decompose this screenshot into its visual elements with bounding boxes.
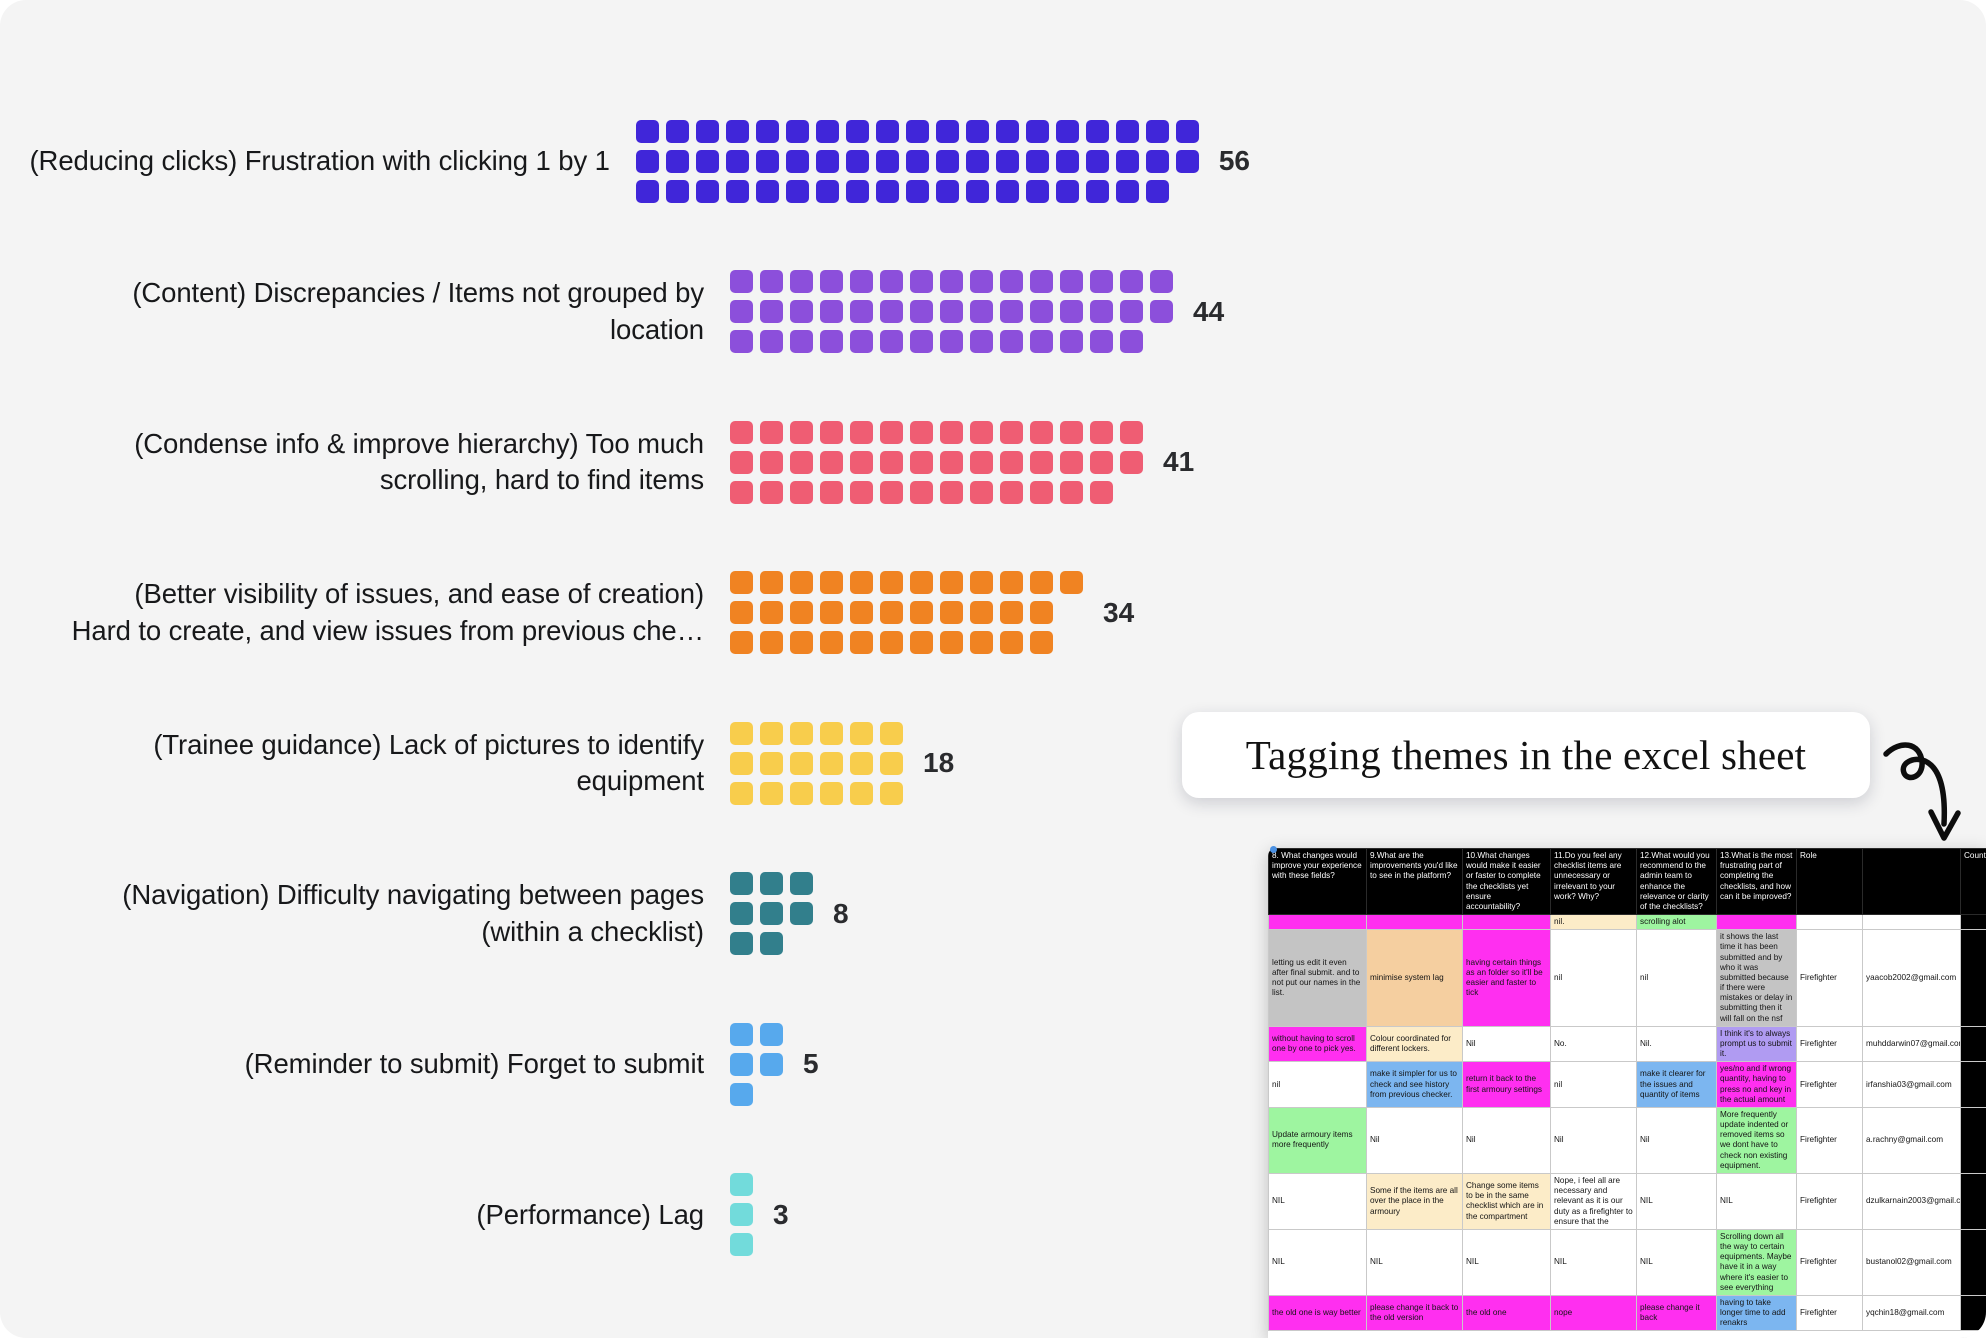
waffle-cell — [846, 180, 869, 203]
chart-row: (Reminder to submit) Forget to submit5 — [0, 989, 1250, 1140]
waffle-cell — [696, 150, 719, 173]
waffle-cell — [936, 150, 959, 173]
chart-row-label: (Reducing clicks) Frustration with click… — [0, 143, 636, 179]
table-cell[interactable]: please change it back to the old version — [1367, 1295, 1463, 1331]
table-cell[interactable]: NIL — [1637, 1173, 1717, 1229]
waffle-cell — [1030, 421, 1053, 444]
table-cell[interactable]: make it clearer for the issues and quant… — [1637, 1062, 1717, 1108]
waffle-cell — [1086, 150, 1109, 173]
waffle-cell — [1026, 180, 1049, 203]
table-cell[interactable]: bustanol02@gmail.com — [1863, 1229, 1961, 1295]
chart-row-label: (Navigation) Difficulty navigating betwe… — [0, 877, 730, 950]
waffle-cell — [730, 1173, 753, 1196]
waffle-cell — [996, 180, 1019, 203]
waffle-cell — [880, 481, 903, 504]
waffle-cell — [786, 120, 809, 143]
table-cell[interactable] — [1863, 915, 1961, 930]
waffle-cell — [1060, 330, 1083, 353]
callout-text: Tagging themes in the excel sheet — [1246, 731, 1806, 779]
waffle-cell — [1056, 150, 1079, 173]
table-row: letting us edit it even after final subm… — [1269, 930, 1986, 1027]
waffle-cell — [730, 330, 753, 353]
chart-row: (Navigation) Difficulty navigating betwe… — [0, 839, 1250, 990]
waffle-cell — [936, 180, 959, 203]
chart-row-label: (Reminder to submit) Forget to submit — [0, 1046, 730, 1082]
waffle-cell — [666, 180, 689, 203]
waffle-cell — [1026, 120, 1049, 143]
waffle-cell — [1116, 150, 1139, 173]
chart-row-count: 8 — [833, 898, 849, 930]
waffle-cell — [970, 270, 993, 293]
table-cell[interactable]: NIL — [1463, 1229, 1551, 1295]
chart-row-value-group: 34 — [730, 571, 1134, 654]
waffle-cell — [970, 571, 993, 594]
waffle-cell — [1030, 481, 1053, 504]
waffle-chart: (Reducing clicks) Frustration with click… — [0, 0, 1250, 1290]
waffle-cell — [910, 451, 933, 474]
waffle-cell — [1030, 300, 1053, 323]
waffle-cell — [1030, 571, 1053, 594]
table-cell[interactable]: Update armoury items more frequently — [1269, 1107, 1367, 1173]
waffle-cell — [966, 180, 989, 203]
screenshot-canvas: (Reducing clicks) Frustration with click… — [0, 0, 1986, 1338]
chart-row-count: 3 — [773, 1199, 789, 1231]
waffle-cell — [730, 1023, 753, 1046]
table-cell[interactable]: I think it's to always prompt us to subm… — [1717, 1026, 1797, 1062]
waffle-cell — [760, 300, 783, 323]
table-row: nilmake it simpler for us to check and s… — [1269, 1062, 1986, 1108]
waffle-cell — [820, 601, 843, 624]
waffle-cell — [1146, 120, 1169, 143]
waffle-cell — [940, 601, 963, 624]
waffle-cell — [756, 180, 779, 203]
table-cell[interactable] — [1961, 1173, 1986, 1229]
excel-table[interactable]: 8. What changes would improve your exper… — [1268, 848, 1986, 1331]
waffle-cell — [910, 330, 933, 353]
waffle-cell — [910, 270, 933, 293]
waffle-cell — [730, 1083, 753, 1106]
table-cell[interactable]: nil — [1269, 1062, 1367, 1108]
waffle-cell — [760, 330, 783, 353]
waffle-cell — [730, 1053, 753, 1076]
table-header-row: 8. What changes would improve your exper… — [1269, 849, 1986, 915]
waffle-cell — [1030, 601, 1053, 624]
waffle-cell — [1116, 180, 1139, 203]
waffle-cell — [1060, 270, 1083, 293]
waffle-cell — [1000, 330, 1023, 353]
waffle-cell — [1176, 150, 1199, 173]
waffle-grid — [730, 270, 1173, 353]
waffle-cell — [906, 180, 929, 203]
column-header[interactable]: Count — [1961, 849, 1986, 915]
table-cell[interactable]: NIL — [1269, 1173, 1367, 1229]
table-cell[interactable]: nil. — [1551, 915, 1637, 930]
waffle-cell — [696, 180, 719, 203]
waffle-cell — [876, 150, 899, 173]
chart-row-value-group: 41 — [730, 421, 1194, 504]
chart-row: (Performance) Lag3 — [0, 1140, 1250, 1291]
waffle-cell — [820, 752, 843, 775]
waffle-cell — [790, 782, 813, 805]
waffle-cell — [730, 722, 753, 745]
waffle-cell — [1060, 451, 1083, 474]
waffle-cell — [1000, 601, 1023, 624]
curved-arrow-down-icon — [1876, 728, 1976, 848]
waffle-cell — [760, 932, 783, 955]
waffle-cell — [970, 451, 993, 474]
waffle-cell — [970, 330, 993, 353]
table-row: NILNILNILNILNILScrolling down all the wa… — [1269, 1229, 1986, 1295]
waffle-cell — [790, 270, 813, 293]
table-cell[interactable]: Some if the items are all over the place… — [1367, 1173, 1463, 1229]
waffle-grid — [730, 1173, 753, 1256]
chart-row-label: (Condense info & improve hierarchy) Too … — [0, 426, 730, 499]
waffle-cell — [816, 120, 839, 143]
waffle-cell — [966, 150, 989, 173]
waffle-cell — [850, 300, 873, 323]
waffle-cell — [666, 150, 689, 173]
waffle-cell — [1150, 270, 1173, 293]
table-cell[interactable]: nil — [1551, 930, 1637, 1027]
waffle-cell — [786, 180, 809, 203]
waffle-cell — [996, 150, 1019, 173]
table-cell[interactable] — [1961, 1295, 1986, 1331]
waffle-cell — [970, 300, 993, 323]
table-cell[interactable]: NIL — [1637, 1229, 1717, 1295]
waffle-cell — [820, 421, 843, 444]
waffle-cell — [910, 571, 933, 594]
waffle-cell — [940, 571, 963, 594]
waffle-cell — [790, 722, 813, 745]
table-cell[interactable]: Nil — [1637, 1107, 1717, 1173]
column-header[interactable]: 8. What changes would improve your exper… — [1269, 849, 1367, 915]
table-cell[interactable]: More frequently update indented or remov… — [1717, 1107, 1797, 1173]
waffle-cell — [846, 120, 869, 143]
table-cell[interactable]: irfanshia03@gmail.com — [1863, 1062, 1961, 1108]
table-partial-row: nil.scrolling alot — [1269, 915, 1986, 930]
waffle-cell — [726, 180, 749, 203]
table-cell[interactable]: Firefighter — [1797, 1295, 1863, 1331]
waffle-cell — [1056, 120, 1079, 143]
waffle-cell — [1000, 300, 1023, 323]
waffle-cell — [910, 481, 933, 504]
waffle-cell — [940, 300, 963, 323]
waffle-grid — [636, 120, 1199, 203]
table-cell[interactable]: having to take longer time to add renakr… — [1717, 1295, 1797, 1331]
waffle-cell — [876, 120, 899, 143]
waffle-cell — [996, 120, 1019, 143]
waffle-cell — [820, 782, 843, 805]
table-cell[interactable]: Firefighter — [1797, 1173, 1863, 1229]
waffle-cell — [880, 421, 903, 444]
waffle-cell — [910, 300, 933, 323]
excel-sheet-screenshot[interactable]: 8. What changes would improve your exper… — [1268, 848, 1986, 1338]
waffle-cell — [820, 571, 843, 594]
table-cell[interactable]: NIL — [1551, 1229, 1637, 1295]
chart-row-count: 44 — [1193, 296, 1224, 328]
table-cell[interactable]: nil — [1551, 1062, 1637, 1108]
table-cell[interactable]: NIL — [1269, 1229, 1367, 1295]
table-cell[interactable]: Nil — [1551, 1107, 1637, 1173]
waffle-cell — [970, 421, 993, 444]
waffle-cell — [1120, 270, 1143, 293]
waffle-cell — [790, 902, 813, 925]
table-cell[interactable]: please change it back — [1637, 1295, 1717, 1331]
table-cell[interactable]: Nil — [1463, 1107, 1551, 1173]
table-cell[interactable]: Nil — [1463, 1026, 1551, 1062]
waffle-cell — [820, 722, 843, 745]
chart-row-value-group: 8 — [730, 872, 849, 955]
waffle-cell — [730, 300, 753, 323]
chart-row-count: 56 — [1219, 145, 1250, 177]
table-cell[interactable]: NIL — [1367, 1229, 1463, 1295]
waffle-cell — [816, 150, 839, 173]
waffle-cell — [760, 752, 783, 775]
table-cell[interactable]: Firefighter — [1797, 1107, 1863, 1173]
waffle-cell — [786, 150, 809, 173]
waffle-cell — [880, 631, 903, 654]
column-header[interactable]: 13.What is the most frustrating part of … — [1717, 849, 1797, 915]
waffle-cell — [880, 571, 903, 594]
chart-row: (Condense info & improve hierarchy) Too … — [0, 387, 1250, 538]
table-cell[interactable] — [1961, 930, 1986, 1027]
chart-row-count: 5 — [803, 1048, 819, 1080]
waffle-grid — [730, 1023, 783, 1106]
table-cell[interactable] — [1269, 915, 1367, 930]
table-cell[interactable] — [1367, 915, 1463, 930]
waffle-cell — [820, 300, 843, 323]
waffle-cell — [1056, 180, 1079, 203]
waffle-cell — [850, 722, 873, 745]
table-cell[interactable] — [1463, 915, 1551, 930]
waffle-cell — [820, 330, 843, 353]
waffle-cell — [726, 120, 749, 143]
chart-row-count: 41 — [1163, 446, 1194, 478]
waffle-cell — [730, 1203, 753, 1226]
column-header[interactable]: Role — [1797, 849, 1863, 915]
table-cell[interactable]: Nil — [1367, 1107, 1463, 1173]
table-cell[interactable] — [1961, 915, 1986, 930]
table-cell[interactable]: without having to scroll one by one to p… — [1269, 1026, 1367, 1062]
waffle-cell — [846, 150, 869, 173]
waffle-cell — [880, 752, 903, 775]
waffle-cell — [1090, 421, 1113, 444]
waffle-cell — [880, 722, 903, 745]
table-cell[interactable]: the old one is way better — [1269, 1295, 1367, 1331]
waffle-cell — [906, 150, 929, 173]
waffle-cell — [790, 601, 813, 624]
waffle-cell — [876, 180, 899, 203]
waffle-cell — [880, 601, 903, 624]
waffle-cell — [1000, 571, 1023, 594]
waffle-cell — [880, 270, 903, 293]
waffle-cell — [850, 270, 873, 293]
waffle-cell — [1030, 330, 1053, 353]
table-cell[interactable]: Nil. — [1637, 1026, 1717, 1062]
waffle-cell — [760, 571, 783, 594]
table-cell[interactable] — [1797, 915, 1863, 930]
table-cell[interactable]: letting us edit it even after final subm… — [1269, 930, 1367, 1027]
table-cell[interactable]: having certain things as an folder so it… — [1463, 930, 1551, 1027]
waffle-cell — [850, 481, 873, 504]
callout-bubble: Tagging themes in the excel sheet — [1182, 712, 1870, 798]
table-cell[interactable]: muhddarwin07@gmail.con — [1863, 1026, 1961, 1062]
waffle-grid — [730, 722, 903, 805]
waffle-cell — [850, 330, 873, 353]
waffle-cell — [730, 601, 753, 624]
table-cell[interactable]: it shows the last time it has been submi… — [1717, 930, 1797, 1027]
waffle-cell — [940, 631, 963, 654]
waffle-cell — [760, 1053, 783, 1076]
chart-row: (Content) Discrepancies / Items not grou… — [0, 237, 1250, 388]
table-row: the old one is way betterplease change i… — [1269, 1295, 1986, 1331]
table-row: without having to scroll one by one to p… — [1269, 1026, 1986, 1062]
waffle-cell — [790, 571, 813, 594]
waffle-cell — [880, 330, 903, 353]
waffle-cell — [940, 270, 963, 293]
waffle-cell — [1000, 270, 1023, 293]
table-cell[interactable]: NIL — [1717, 1173, 1797, 1229]
waffle-cell — [910, 631, 933, 654]
waffle-cell — [850, 421, 873, 444]
table-cell[interactable] — [1961, 1026, 1986, 1062]
waffle-cell — [936, 120, 959, 143]
waffle-cell — [1090, 481, 1113, 504]
waffle-cell — [850, 752, 873, 775]
table-cell[interactable]: Colour coordinated for different lockers… — [1367, 1026, 1463, 1062]
waffle-cell — [730, 782, 753, 805]
waffle-cell — [1030, 631, 1053, 654]
table-cell[interactable]: No. — [1551, 1026, 1637, 1062]
table-cell[interactable] — [1961, 1107, 1986, 1173]
table-cell[interactable]: Firefighter — [1797, 1229, 1863, 1295]
table-cell[interactable] — [1961, 1229, 1986, 1295]
table-cell[interactable]: Change some items to be in the same chec… — [1463, 1173, 1551, 1229]
waffle-cell — [1000, 481, 1023, 504]
column-header[interactable] — [1863, 849, 1961, 915]
table-cell[interactable]: Firefighter — [1797, 1026, 1863, 1062]
chart-row-value-group: 5 — [730, 1023, 819, 1106]
waffle-cell — [1120, 300, 1143, 323]
waffle-cell — [940, 481, 963, 504]
waffle-cell — [760, 902, 783, 925]
table-cell[interactable]: yes/no and if wrong quantity, having to … — [1717, 1062, 1797, 1108]
waffle-cell — [790, 451, 813, 474]
waffle-cell — [760, 782, 783, 805]
table-row: NILSome if the items are all over the pl… — [1269, 1173, 1986, 1229]
waffle-cell — [1026, 150, 1049, 173]
waffle-cell — [816, 180, 839, 203]
chart-row-label: (Content) Discrepancies / Items not grou… — [0, 275, 730, 348]
column-header[interactable]: 10.What changes would make it easier or … — [1463, 849, 1551, 915]
waffle-cell — [1060, 300, 1083, 323]
waffle-cell — [756, 150, 779, 173]
table-cell[interactable] — [1961, 1062, 1986, 1108]
table-cell[interactable]: scrolling alot — [1637, 915, 1717, 930]
waffle-cell — [820, 481, 843, 504]
table-cell[interactable]: yqchin18@gmail.com — [1863, 1295, 1961, 1331]
waffle-cell — [730, 421, 753, 444]
waffle-cell — [726, 150, 749, 173]
waffle-cell — [636, 180, 659, 203]
chart-row-count: 34 — [1103, 597, 1134, 629]
table-cell[interactable]: nope — [1551, 1295, 1637, 1331]
chart-row-value-group: 3 — [730, 1173, 789, 1256]
waffle-cell — [966, 120, 989, 143]
waffle-cell — [730, 752, 753, 775]
waffle-cell — [880, 300, 903, 323]
waffle-cell — [970, 481, 993, 504]
waffle-cell — [970, 631, 993, 654]
waffle-cell — [790, 421, 813, 444]
table-cell[interactable]: dzulkarnain2003@gmail.com — [1863, 1173, 1961, 1229]
waffle-cell — [730, 631, 753, 654]
table-cell[interactable]: return it back to the first armoury sett… — [1463, 1062, 1551, 1108]
waffle-cell — [760, 601, 783, 624]
waffle-cell — [1090, 300, 1113, 323]
chart-row-value-group: 56 — [636, 120, 1250, 203]
waffle-cell — [760, 421, 783, 444]
waffle-cell — [1146, 150, 1169, 173]
waffle-cell — [1176, 120, 1199, 143]
waffle-cell — [730, 481, 753, 504]
waffle-cell — [1116, 120, 1139, 143]
column-header[interactable]: 9.What are the improvements you'd like t… — [1367, 849, 1463, 915]
chart-row-value-group: 18 — [730, 722, 954, 805]
table-cell[interactable]: Scrolling down all the way to certain eq… — [1717, 1229, 1797, 1295]
table-cell[interactable]: Firefighter — [1797, 930, 1863, 1027]
waffle-cell — [790, 481, 813, 504]
waffle-cell — [910, 421, 933, 444]
waffle-cell — [696, 120, 719, 143]
table-cell[interactable] — [1717, 915, 1797, 930]
table-cell[interactable]: Firefighter — [1797, 1062, 1863, 1108]
waffle-cell — [730, 902, 753, 925]
waffle-cell — [760, 631, 783, 654]
waffle-cell — [880, 782, 903, 805]
waffle-cell — [760, 451, 783, 474]
waffle-cell — [850, 571, 873, 594]
cell-selection-handle — [1270, 846, 1277, 853]
table-cell[interactable]: make it simpler for us to check and see … — [1367, 1062, 1463, 1108]
table-cell[interactable]: minimise system lag — [1367, 930, 1463, 1027]
column-header[interactable]: 11.Do you feel any checklist items are u… — [1551, 849, 1637, 915]
chart-row: (Reducing clicks) Frustration with click… — [0, 86, 1250, 237]
waffle-cell — [850, 631, 873, 654]
table-cell[interactable]: the old one — [1463, 1295, 1551, 1331]
chart-row: (Better visibility of issues, and ease o… — [0, 538, 1250, 689]
waffle-cell — [790, 330, 813, 353]
table-cell[interactable]: yaacob2002@gmail.com — [1863, 930, 1961, 1027]
waffle-cell — [906, 120, 929, 143]
table-cell[interactable]: a.rachny@gmail.com — [1863, 1107, 1961, 1173]
column-header[interactable]: 12.What would you recommend to the admin… — [1637, 849, 1717, 915]
waffle-cell — [1090, 330, 1113, 353]
chart-row-value-group: 44 — [730, 270, 1224, 353]
waffle-cell — [910, 601, 933, 624]
waffle-cell — [820, 451, 843, 474]
waffle-cell — [1060, 571, 1083, 594]
table-cell[interactable]: Nope, i feel all are necessary and relev… — [1551, 1173, 1637, 1229]
waffle-cell — [940, 330, 963, 353]
waffle-cell — [760, 270, 783, 293]
table-cell[interactable]: nil — [1637, 930, 1717, 1027]
waffle-cell — [790, 752, 813, 775]
waffle-cell — [730, 932, 753, 955]
waffle-cell — [850, 782, 873, 805]
waffle-cell — [636, 150, 659, 173]
waffle-cell — [1120, 451, 1143, 474]
